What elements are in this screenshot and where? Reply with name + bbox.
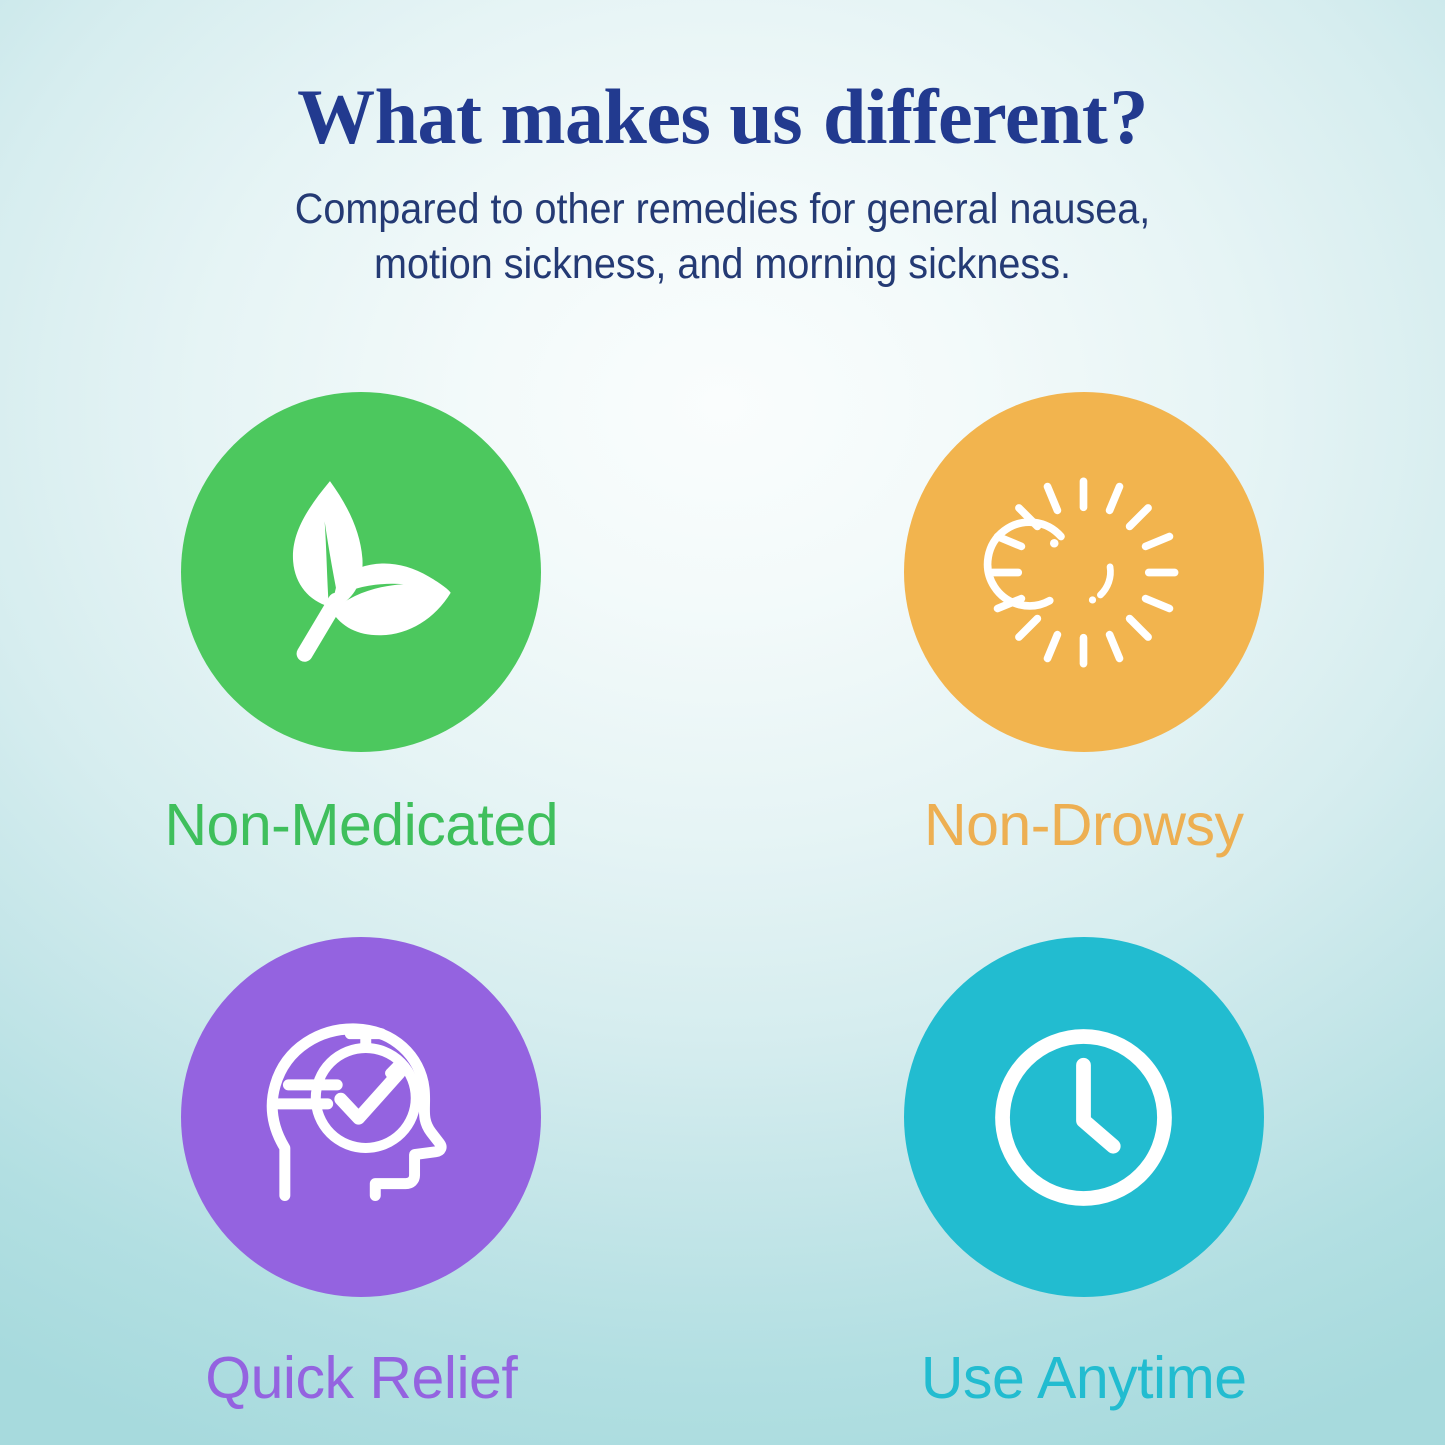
feature-icon-circle-non-drowsy: [904, 392, 1264, 752]
page-title-part2: ?: [1109, 73, 1148, 160]
page-subtitle: Compared to other remedies for general n…: [58, 182, 1387, 292]
feature-icon-circle-non-medicated: [181, 392, 541, 752]
leaf-icon: [246, 457, 476, 687]
clock-icon: [981, 1015, 1186, 1220]
page-title-emphasis-wrap: different: [821, 78, 1109, 156]
page-title-part1: What makes us: [297, 73, 821, 160]
page-title-emphasis: different: [823, 73, 1107, 160]
feature-label-quick-relief: Quick Relief: [205, 1349, 517, 1408]
sun-icon: [971, 460, 1196, 685]
feature-label-non-medicated: Non-Medicated: [164, 796, 558, 855]
feature-icon-circle-use-anytime: [904, 937, 1264, 1297]
feature-item-quick-relief: Quick Relief: [61, 937, 661, 1445]
page-title: What makes us different?: [0, 78, 1445, 156]
feature-grid: Non-Medicated: [0, 392, 1445, 1445]
header-block: What makes us different? Compared to oth…: [0, 78, 1445, 292]
page-subtitle-line-1: Compared to other remedies for general n…: [58, 182, 1387, 237]
feature-icon-circle-quick-relief: [181, 937, 541, 1297]
feature-label-use-anytime: Use Anytime: [921, 1349, 1247, 1408]
infographic-poster: What makes us different? Compared to oth…: [0, 0, 1445, 1445]
feature-item-non-medicated: Non-Medicated: [61, 392, 661, 937]
feature-label-non-drowsy: Non-Drowsy: [924, 796, 1244, 855]
feature-item-use-anytime: Use Anytime: [784, 937, 1384, 1445]
page-subtitle-line-2: motion sickness, and morning sickness.: [58, 237, 1387, 292]
head-stopwatch-icon: [242, 998, 480, 1236]
feature-item-non-drowsy: Non-Drowsy: [784, 392, 1384, 937]
